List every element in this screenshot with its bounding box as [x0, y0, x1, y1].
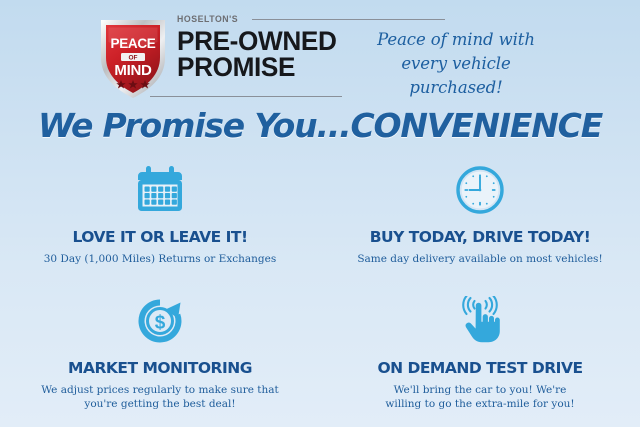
tap-hand-icon	[455, 296, 505, 346]
brand-bottom-rule	[150, 96, 342, 97]
feature-icon-slot: $	[135, 295, 185, 347]
feature-subtitle-line: you're getting the best deal!	[41, 397, 279, 411]
feature-on-demand-test-drive: ON DEMAND TEST DRIVE We'll bring the car…	[320, 289, 640, 420]
feature-subtitle: We'll bring the car to you! We're willin…	[385, 383, 574, 411]
feature-title: BUY TODAY, DRIVE TODAY!	[370, 228, 591, 246]
feature-subtitle-line: 30 Day (1,000 Miles) Returns or Exchange…	[44, 252, 277, 266]
feature-buy-today-drive-today: BUY TODAY, DRIVE TODAY! Same day deliver…	[320, 158, 640, 289]
feature-subtitle: Same day delivery available on most vehi…	[357, 252, 602, 266]
dollar-sign: $	[155, 313, 166, 334]
page-title: We Promise You...CONVENIENCE	[0, 106, 640, 145]
feature-title: MARKET MONITORING	[68, 359, 252, 377]
feature-icon-slot	[455, 164, 505, 216]
clock-icon	[455, 165, 505, 215]
eyebrow-row: HOSELTON'S	[177, 11, 447, 27]
feature-icon-slot	[134, 164, 186, 216]
peace-of-mind-shield-logo: PEACE OF MIND	[95, 12, 171, 102]
feature-subtitle: We adjust prices regularly to make sure …	[41, 383, 279, 411]
shield-line3: MIND	[114, 62, 152, 79]
feature-subtitle: 30 Day (1,000 Miles) Returns or Exchange…	[44, 252, 277, 266]
promo-graphic: PEACE OF MIND HOSELTON'S PRE-OWNED PROMI…	[0, 0, 640, 427]
tagline-line2: every vehicle purchased!	[356, 52, 556, 100]
feature-subtitle-line: Same day delivery available on most vehi…	[357, 252, 602, 266]
feature-title: ON DEMAND TEST DRIVE	[377, 359, 582, 377]
feature-love-it-or-leave-it: LOVE IT OR LEAVE IT! 30 Day (1,000 Miles…	[0, 158, 320, 289]
feature-market-monitoring: $ MARKET MONITORING We adjust prices reg…	[0, 289, 320, 420]
feature-subtitle-line: We adjust prices regularly to make sure …	[41, 383, 279, 397]
feature-icon-slot	[455, 295, 505, 347]
tagline: Peace of mind with every vehicle purchas…	[356, 28, 556, 100]
dollar-refresh-icon: $	[135, 296, 185, 346]
shield-icon: PEACE OF MIND	[95, 12, 171, 102]
eyebrow-text: HOSELTON'S	[177, 14, 238, 25]
eyebrow-rule	[252, 19, 446, 20]
feature-grid: LOVE IT OR LEAVE IT! 30 Day (1,000 Miles…	[0, 158, 640, 420]
feature-subtitle-line: willing to go the extra-mile for you!	[385, 397, 574, 411]
shield-line2: OF	[128, 55, 137, 62]
tagline-line1: Peace of mind with	[356, 28, 556, 52]
shield-line1: PEACE	[110, 36, 155, 51]
feature-title: LOVE IT OR LEAVE IT!	[72, 228, 247, 246]
calendar-icon	[134, 166, 186, 214]
feature-subtitle-line: We'll bring the car to you! We're	[385, 383, 574, 397]
